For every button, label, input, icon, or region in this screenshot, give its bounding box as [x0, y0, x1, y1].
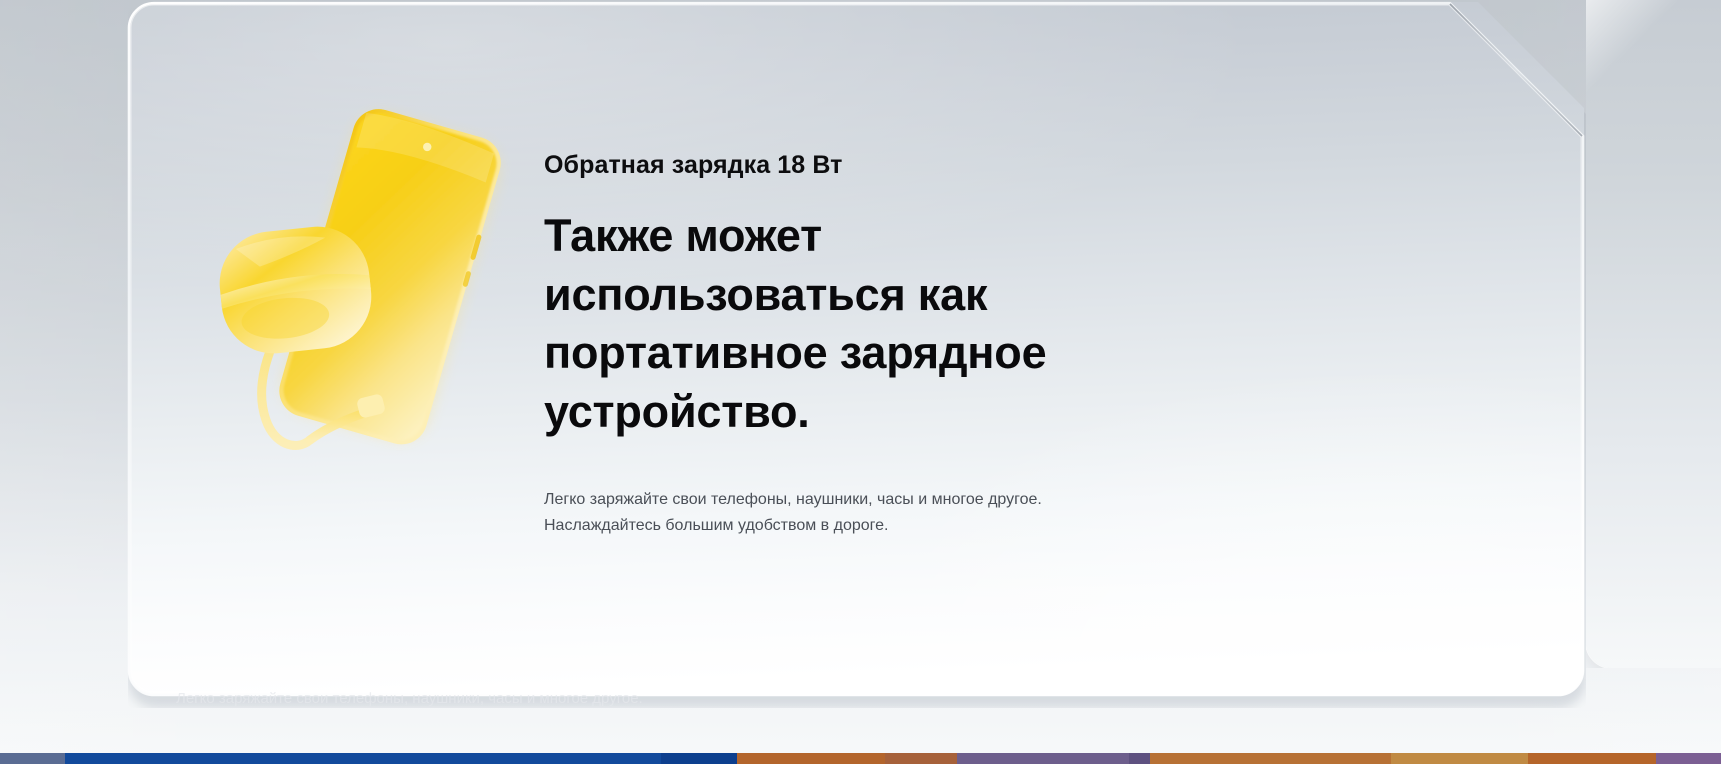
- strip-seg-amber: [1150, 753, 1391, 764]
- feature-eyebrow: Обратная зарядка 18 Вт: [544, 150, 1184, 180]
- strip-seg-plum: [1129, 753, 1150, 764]
- strip-seg-gold: [1391, 753, 1529, 764]
- feature-headline: Также может использоваться как портативн…: [544, 207, 1114, 441]
- strip-seg-orange: [1528, 753, 1655, 764]
- feature-copy-block: Обратная зарядка 18 Вт Также может испол…: [544, 150, 1184, 539]
- adjacent-feature-card[interactable]: [1586, 0, 1721, 668]
- strip-seg-violet: [1656, 753, 1721, 764]
- adjacent-card-bevel: [1586, 0, 1721, 668]
- feature-page: Обратная зарядка 18 Вт Также может испол…: [0, 0, 1721, 764]
- strip-seg-purple: [957, 753, 1129, 764]
- feature-body-text: Легко заряжайте свои телефоны, наушники,…: [544, 487, 1124, 539]
- bottom-color-strip: [0, 753, 1721, 764]
- strip-seg-copper: [885, 753, 957, 764]
- strip-seg-slate: [0, 753, 65, 764]
- strip-seg-rust: [737, 753, 885, 764]
- strip-seg-blue: [65, 753, 660, 764]
- strip-seg-navy: [661, 753, 737, 764]
